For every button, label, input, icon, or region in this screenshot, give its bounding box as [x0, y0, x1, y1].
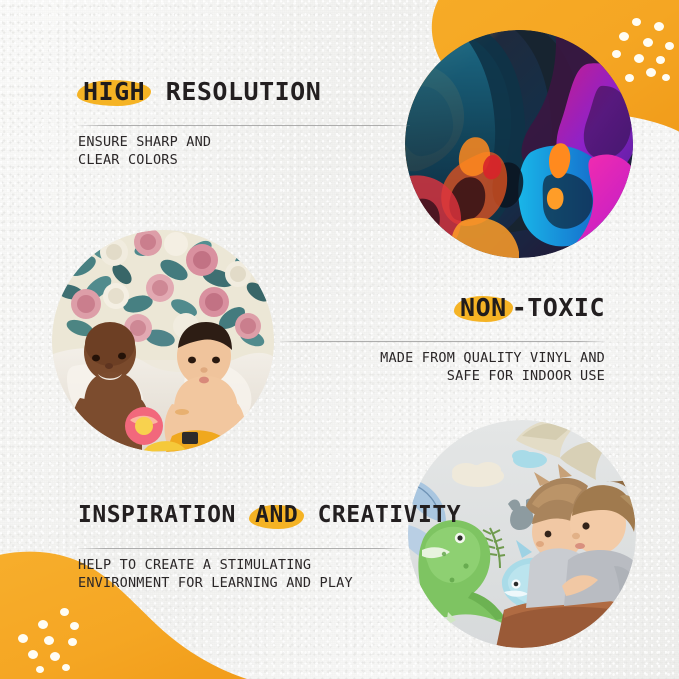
- feature-title-highlight: NON: [455, 294, 512, 322]
- feature-title-high-resolution: HIGH RESOLUTION: [78, 78, 418, 106]
- feature-title-rest: RESOLUTION: [150, 77, 321, 106]
- feature-description-non-toxic: MADE FROM QUALITY VINYL AND SAFE FOR IND…: [280, 349, 605, 385]
- feature-title-prefix: INSPIRATION: [78, 502, 250, 528]
- feature-title-non-toxic: NON-TOXIC: [455, 294, 605, 322]
- feature-description-inspiration-and-creativity: HELP TO CREATE A STIMULATING ENVIRONMENT…: [78, 556, 353, 592]
- feature-block-non-toxic: NON-TOXIC: [280, 294, 605, 322]
- infographic-canvas: HIGH RESOLUTION ENSURE SHARP AND CLEAR C…: [0, 0, 679, 679]
- feature-block-high-resolution: HIGH RESOLUTION: [78, 78, 418, 106]
- divider-inspiration-and-creativity: [78, 548, 405, 549]
- decorative-blob-bottom-left: [0, 530, 300, 679]
- feature-description-line1: HELP TO CREATE A STIMULATING: [78, 556, 353, 574]
- feature-title-inspiration-and-creativity: INSPIRATION AND CREATIVITY: [78, 503, 418, 529]
- feature-description-line1: MADE FROM QUALITY VINYL AND: [280, 349, 605, 367]
- white-dot-cluster-bottom-left: [14, 608, 94, 674]
- feature-description-line2: ENVIRONMENT FOR LEARNING AND PLAY: [78, 574, 353, 592]
- feature-description-high-resolution: ENSURE SHARP AND CLEAR COLORS: [78, 133, 211, 169]
- feature-block-inspiration-and-creativity: INSPIRATION AND CREATIVITY: [78, 503, 418, 529]
- babies-floral-wallpaper-photo: [52, 230, 274, 452]
- divider-non-toxic: [280, 341, 605, 342]
- feature-description-line1: ENSURE SHARP AND: [78, 133, 211, 151]
- feature-title-rest: -TOXIC: [512, 293, 605, 322]
- feature-title-rest: CREATIVITY: [303, 502, 461, 528]
- kids-dinosaur-decal-photo: [408, 420, 636, 648]
- feature-description-line2: CLEAR COLORS: [78, 151, 211, 169]
- feature-title-highlight: AND: [250, 503, 303, 529]
- abstract-fluid-art-photo: [405, 30, 633, 258]
- white-dot-cluster-top-right: [610, 18, 679, 88]
- feature-description-line2: SAFE FOR INDOOR USE: [280, 367, 605, 385]
- divider-high-resolution: [78, 125, 410, 126]
- feature-title-highlight: HIGH: [78, 78, 150, 106]
